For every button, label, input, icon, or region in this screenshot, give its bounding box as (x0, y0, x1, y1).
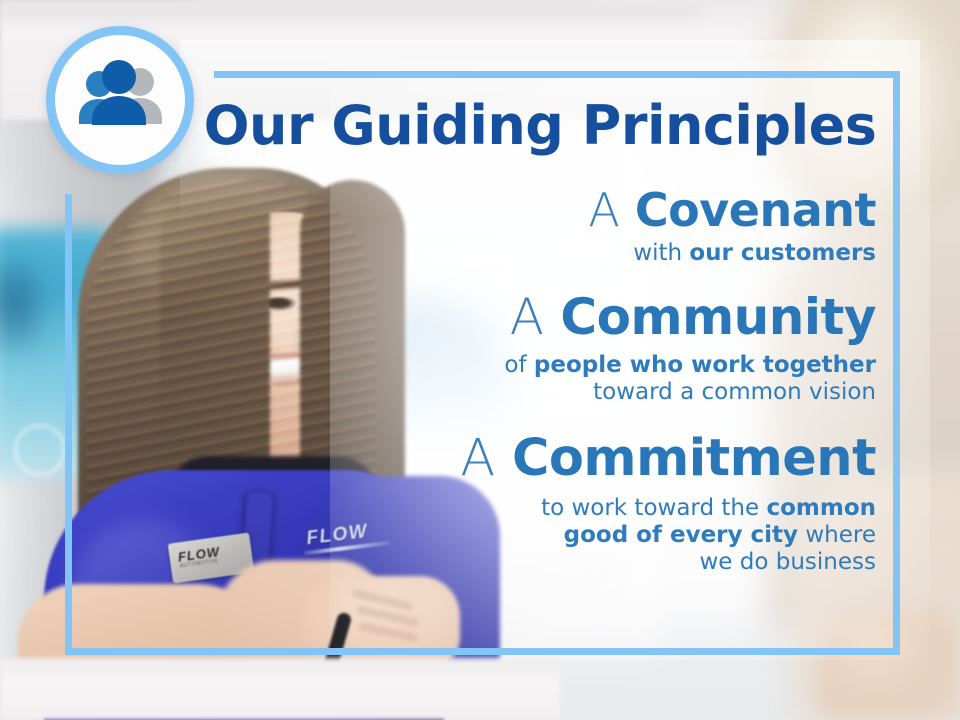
principle-covenant-subtext: with our customers (300, 240, 876, 267)
principle-commitment-article: A (460, 429, 495, 488)
frame-border-right (893, 71, 900, 655)
principle-commitment: A Commitment to work toward the commongo… (300, 432, 876, 576)
principle-commitment-word: Commitment (512, 429, 876, 488)
principle-commitment-title: A Commitment (300, 432, 876, 486)
principle-community: A Community of people who work togethert… (300, 291, 876, 406)
principle-community-title: A Community (300, 291, 876, 344)
guiding-principles-poster: FLOW AUTOMOTIVE FLOW Our Guiding Princip… (0, 0, 960, 720)
background-display-logo (14, 424, 66, 476)
foreground-table (0, 658, 560, 720)
principle-community-word: Community (560, 288, 876, 346)
principles-list: A Covenant with our customers A Communit… (300, 186, 876, 582)
principle-commitment-subtext: to work toward the commongood of every c… (300, 495, 876, 576)
background-display-shadow (0, 250, 50, 360)
principle-covenant-article: A (588, 183, 620, 237)
background-counter-edge (0, 0, 700, 16)
principle-covenant-word: Covenant (635, 183, 876, 237)
customer-hand (818, 612, 958, 720)
frame-border-bottom (65, 648, 900, 655)
principle-community-article: A (510, 288, 545, 346)
frame-border-left (65, 194, 72, 655)
principle-community-subtext: of people who work togethertoward a comm… (300, 352, 876, 406)
frame-border-top (214, 71, 900, 78)
page-title: Our Guiding Principles (200, 96, 880, 156)
people-group-icon (70, 56, 170, 136)
principle-covenant-title: A Covenant (300, 186, 876, 234)
principle-covenant: A Covenant with our customers (300, 186, 876, 267)
